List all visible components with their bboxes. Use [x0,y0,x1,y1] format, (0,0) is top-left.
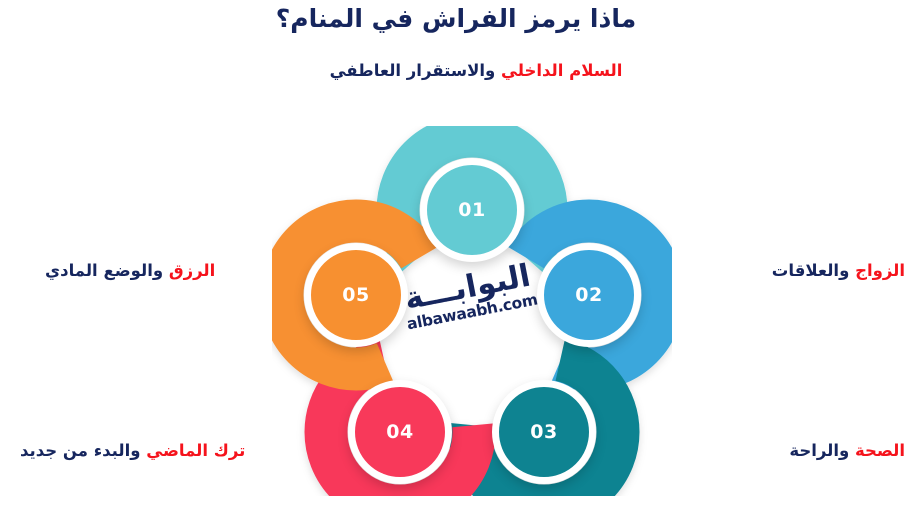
petal-label-02-highlight: الزواج [855,261,905,280]
petal-number-01: 01 [458,199,485,221]
petal-label-04-rest: والبدء من جديد [20,441,146,460]
petal-node-01[interactable]: 01 [420,158,524,262]
petal-label-05-rest: والوضع المادي [45,261,169,280]
petal-number-05: 05 [342,284,369,306]
petal-number-04: 04 [386,421,413,443]
petal-label-03: الصحة والراحة [690,438,905,464]
petal-label-05: الرزق والوضع المادي [45,258,285,284]
petal-label-02-rest: والعلاقات [772,261,855,280]
petal-number-02: 02 [575,284,602,306]
petal-label-03-rest: والراحة [789,441,855,460]
petal-label-01: السلام الداخلي والاستقرار العاطفي [306,58,646,84]
petal-label-01-rest: والاستقرار العاطفي [330,61,501,80]
petal-label-02: الزواج والعلاقات [700,258,905,284]
petal-label-04-highlight: ترك الماضي [146,441,245,460]
petal-node-05[interactable]: 05 [304,243,408,347]
petal-node-02[interactable]: 02 [537,243,641,347]
petal-label-05-highlight: الرزق [169,261,215,280]
petal-label-04: ترك الماضي والبدء من جديد [20,438,315,464]
petal-flower-diagram: البوابـــة albawaabh.com 01 02 03 04 05 [272,126,672,496]
petal-number-03: 03 [530,421,557,443]
petal-label-03-highlight: الصحة [855,441,905,460]
page-title: ماذا يرمز الفراش في المنام؟ [0,2,912,36]
infographic-canvas: ماذا يرمز الفراش في المنام؟ السلام الداخ… [0,0,912,506]
petal-node-03[interactable]: 03 [492,380,596,484]
petal-label-01-highlight: السلام الداخلي [501,61,622,80]
petal-node-04[interactable]: 04 [348,380,452,484]
